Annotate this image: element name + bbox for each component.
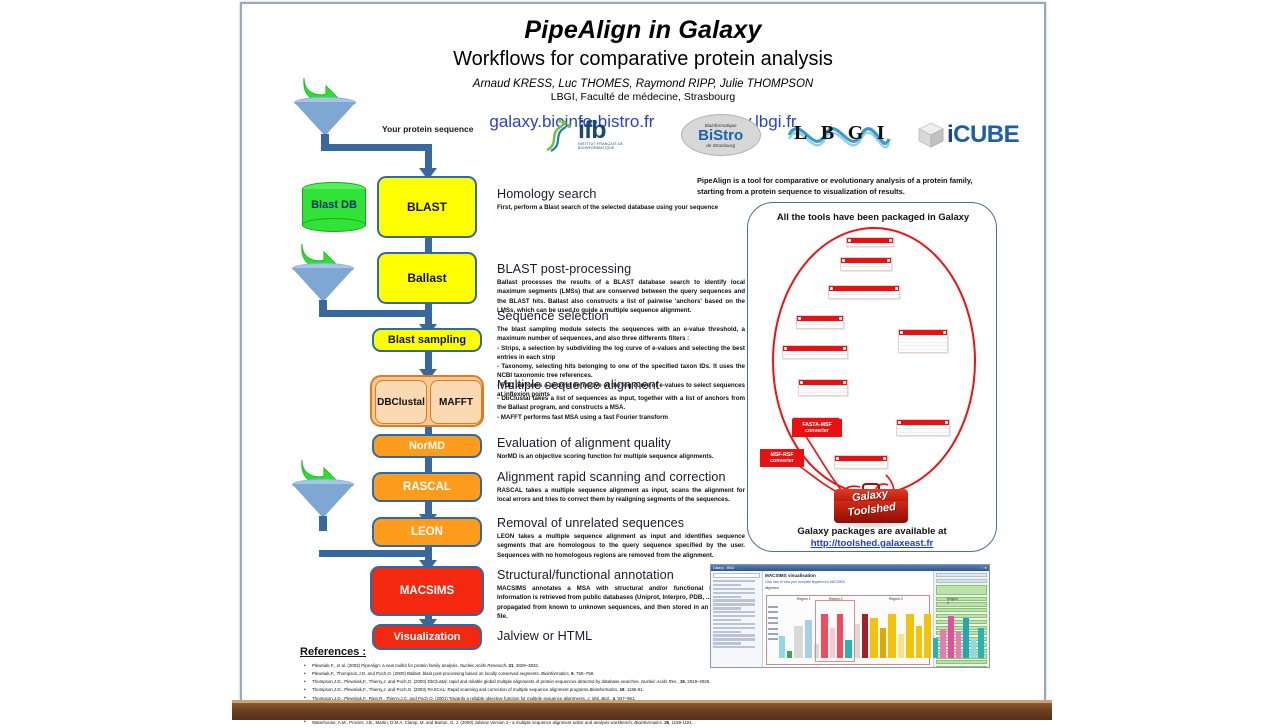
input-funnel-2 bbox=[292, 252, 354, 316]
poster: PipeAlign in Galaxy Workflows for compar… bbox=[240, 2, 1046, 713]
node-blast[interactable]: BLAST bbox=[377, 176, 477, 238]
desc-body: LEON takes a multiple sequence alignment… bbox=[497, 532, 745, 560]
author-list: Arnaud KRESS, Luc THOMES, Raymond RIPP, … bbox=[242, 78, 1044, 90]
reference-item: Plewniak,F., Thompson,J.D. and Poch,O. (… bbox=[304, 670, 994, 678]
node-normd[interactable]: NorMD bbox=[372, 434, 482, 458]
input-funnel-1 bbox=[294, 86, 356, 150]
lbgi-logo: L B G I bbox=[787, 115, 891, 155]
node-ballast[interactable]: Ballast bbox=[377, 252, 477, 304]
screenshot-note: alignment bbox=[765, 586, 931, 590]
node-mafft[interactable]: MAFFT bbox=[430, 380, 482, 424]
affiliation: LBGI, Faculté de médecine, Strasbourg bbox=[242, 91, 1044, 103]
screenshot-window-title: Galaxy - MSA bbox=[713, 566, 734, 570]
connector-funnel2 bbox=[319, 310, 432, 317]
ifb-wordmark: ifb INSTITUT FRANÇAIS DE BIOINFORMATIQUE bbox=[578, 120, 654, 149]
funnel-label: Your protein sequence bbox=[382, 124, 473, 134]
msf-rsf-converter[interactable]: MSF-RSFconverter bbox=[760, 449, 804, 467]
macsims-screenshot[interactable]: Galaxy - MSA ▫ ▫ ✕ MACSIMS visualisation… bbox=[710, 564, 990, 668]
lbgi-letters: L B G I bbox=[787, 122, 891, 145]
window-controls: ▫ ▫ ✕ bbox=[980, 566, 987, 570]
blast-db-icon[interactable]: Blast DB bbox=[302, 182, 366, 232]
desc-body: NorMD is an objective scoring function f… bbox=[497, 452, 745, 461]
desc-jalview-or-html: Jalview or HTML bbox=[497, 629, 745, 645]
desc-blast-post-processing: BLAST post-processing Ballast processes … bbox=[497, 262, 745, 315]
icube-logo: iCUBE bbox=[918, 113, 1042, 157]
galaxy-toolshed-icon[interactable]: Galaxy Toolshed bbox=[834, 481, 908, 525]
desc-evaluation-of-alignment-quality: Evaluation of alignment quality NorMD is… bbox=[497, 436, 745, 461]
page-title: PipeAlign in Galaxy bbox=[242, 16, 1044, 45]
desc-body: First, perform a Blast search of the sel… bbox=[497, 203, 745, 212]
poster-stage: PipeAlign in Galaxy Workflows for compar… bbox=[0, 0, 1280, 720]
bistro-logo: Bioinformatique BiStro de Strasbourg bbox=[681, 114, 761, 156]
node-msa-group: DBClustal MAFFT bbox=[370, 375, 484, 427]
desc-multiple-sequence-alignment: Multiple sequence alignment - DbClustal … bbox=[497, 378, 745, 422]
reference-item: Plewniak F., et al. (2003) PipeAlign: a … bbox=[304, 662, 994, 670]
toolshed-link[interactable]: http://toolshed.galaxeast.fr bbox=[747, 538, 997, 549]
connector-funnel3 bbox=[319, 550, 432, 557]
pipealign-intro: PipeAlign is a tool for comparative or e… bbox=[697, 176, 997, 197]
screenshot-center-panel: MACSIMS visualisation Click here to view… bbox=[763, 571, 933, 668]
node-leon[interactable]: LEON bbox=[372, 517, 482, 547]
dna-helix-icon bbox=[542, 117, 576, 153]
frame-bottom bbox=[232, 703, 1052, 720]
screenshot-tool-panel bbox=[711, 571, 763, 668]
galaxy-available-text: Galaxy packages are available at bbox=[747, 526, 997, 537]
desc-body: MACSIMS annotates a MSA with structural … bbox=[497, 584, 745, 621]
references-title: References : bbox=[300, 646, 366, 658]
sequence-row-labels bbox=[768, 606, 779, 644]
desc-structural-functional-annotation: Structural/functional annotation MACSIMS… bbox=[497, 568, 745, 621]
screenshot-page-title: MACSIMS visualisation bbox=[765, 573, 931, 578]
cube-icon bbox=[918, 122, 944, 148]
desc-removal-of-unrelated-sequences: Removal of unrelated sequences LEON take… bbox=[497, 516, 745, 560]
desc-body: RASCAL takes a multiple sequence alignme… bbox=[497, 486, 745, 505]
screenshot-link[interactable]: Click here to view your complete alignme… bbox=[765, 580, 931, 584]
node-dbclustal[interactable]: DBClustal bbox=[375, 380, 427, 424]
node-blast-sampling[interactable]: Blast sampling bbox=[372, 328, 482, 352]
connector-funnel1-down bbox=[425, 144, 432, 170]
frame-right bbox=[1048, 0, 1280, 720]
desc-alignment-rapid-scanning-and-correction: Alignment rapid scanning and correction … bbox=[497, 470, 745, 505]
desc-body: - DbClustal takes a list of sequences as… bbox=[497, 394, 745, 422]
poster-inner: PipeAlign in Galaxy Workflows for compar… bbox=[242, 4, 1044, 711]
alignment-viewer[interactable]: Region 1 Region 2 Region 3 Region 4 bbox=[766, 595, 930, 665]
selected-region-box bbox=[815, 600, 855, 662]
node-macsims[interactable]: MACSIMS bbox=[370, 566, 484, 616]
node-visualization[interactable]: Visualization bbox=[372, 624, 482, 650]
reference-item: Thompson,J.D., Plewniak,F., Thierry,J. a… bbox=[304, 678, 994, 686]
screenshot-search-input[interactable] bbox=[713, 573, 760, 578]
galaxy-packaging-box: All the tools have been packaged in Gala… bbox=[747, 202, 997, 552]
input-funnel-3 bbox=[292, 468, 354, 532]
reference-item: Thompson,J.D., Plewniak,F., Thierry,J. a… bbox=[304, 686, 994, 694]
ifb-logo: ifb INSTITUT FRANÇAIS DE BIOINFORMATIQUE bbox=[542, 113, 654, 157]
frame-left bbox=[0, 0, 232, 720]
page-subtitle: Workflows for comparative protein analys… bbox=[242, 48, 1044, 71]
connector-funnel1 bbox=[321, 144, 432, 151]
fasta-msf-converter[interactable]: FASTA-MSFconverter bbox=[792, 419, 842, 437]
logo-row: ifb INSTITUT FRANÇAIS DE BIOINFORMATIQUE… bbox=[542, 112, 1042, 158]
icube-wordmark: iCUBE bbox=[947, 121, 1019, 149]
reference-item: Waterhouse, A.M., Procter, J.B., Martin,… bbox=[304, 719, 994, 727]
node-rascal[interactable]: RASCAL bbox=[372, 472, 482, 502]
